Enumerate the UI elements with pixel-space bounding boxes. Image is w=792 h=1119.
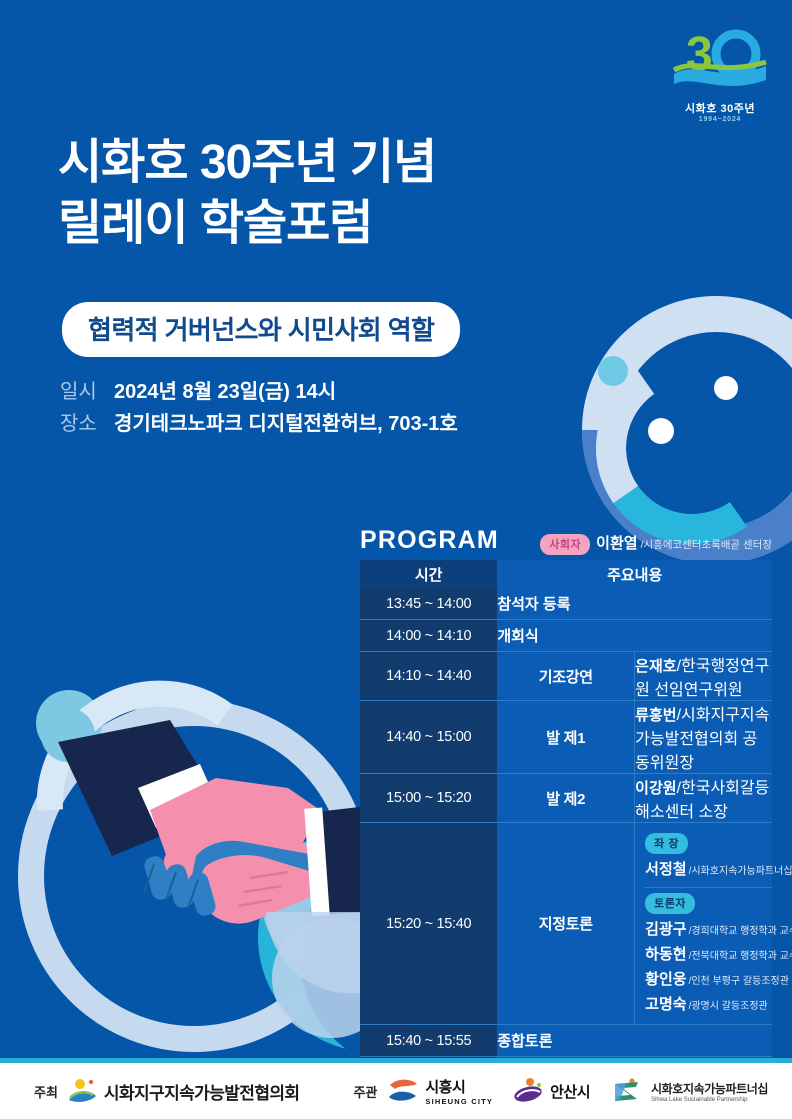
- anniversary-caption: 시화호 30주년: [668, 100, 772, 116]
- mc-block: 사회자 이환열 /시흥에코센터초록배곧 센터장: [540, 532, 772, 555]
- row-time: 15:00 ~ 15:20: [360, 774, 497, 823]
- meta-place-value: 경기테크노파크 디지털전환허브, 703-1호: [114, 413, 458, 435]
- discussant-affiliation: /경희대학교 행정학과 교수: [689, 926, 792, 937]
- siheung-city-logo-icon: [386, 1077, 420, 1105]
- chair-name: 서정철: [645, 861, 686, 878]
- discussant-affiliation: /광명시 갈등조정관: [689, 1001, 768, 1012]
- discussant-item: 하동현/전북대학교 행정학과 교수: [645, 943, 772, 964]
- dot-cyan-icon: [598, 356, 628, 386]
- row-label: 개회식: [497, 628, 538, 645]
- sponsor-group: 주관 시흥시SIHEUNG CITY 안산시: [353, 1076, 788, 1106]
- program-title: PROGRAM: [360, 526, 499, 555]
- thirty-logo-icon: 3: [668, 22, 772, 94]
- table-row: 14:00 ~ 14:10 개회식: [360, 620, 772, 652]
- host-org: 시화지구지속가능발전협의회: [67, 1078, 300, 1104]
- dot-white-2-icon: [714, 376, 738, 400]
- sponsor-ansan-name: 안산시: [550, 1081, 590, 1102]
- event-meta: 일시2024년 8월 23일(금) 14시 장소경기테크노파크 디지털전환허브,…: [60, 376, 458, 441]
- sponsor-label: 주관: [353, 1082, 377, 1101]
- sponsor-siheung-english: SIHEUNG CITY: [425, 1097, 493, 1106]
- discussant-name: 고명숙: [645, 996, 686, 1013]
- meta-place-row: 장소경기테크노파크 디지털전환허브, 703-1호: [60, 408, 458, 440]
- row-time: 14:00 ~ 14:10: [360, 620, 497, 652]
- sponsor-partnership-english: Sihwa Lake Sustainable Partnership: [651, 1097, 768, 1103]
- row-label: 기조강연: [497, 652, 634, 701]
- sihwa-council-logo-icon: [67, 1078, 97, 1104]
- subtitle-pill: 협력적 거버넌스와 시민사회 역할: [62, 302, 460, 357]
- discussant-affiliation: /인천 부평구 갈등조정관: [689, 976, 789, 987]
- footer-bar: 주최 시화지구지속가능발전협의회 주관 시흥시SIHEUNG CITY: [0, 1063, 792, 1119]
- sponsor-siheung-name: 시흥시SIHEUNG CITY: [425, 1076, 493, 1106]
- row-time: 13:45 ~ 14:00: [360, 588, 497, 620]
- table-row: 14:40 ~ 15:00 발 제1 류홍번/시화지구지속가능발전협의회 공동위…: [360, 701, 772, 774]
- discussant-name: 하동현: [645, 946, 686, 963]
- table-row: 13:45 ~ 14:00 참석자 등록: [360, 588, 772, 620]
- program-section: PROGRAM 사회자 이환열 /시흥에코센터초록배곧 센터장 시간 주요내용 …: [360, 526, 772, 1089]
- chair-badge: 좌 장: [645, 833, 688, 854]
- title-line-1: 시화호 30주년 기념: [58, 136, 436, 189]
- ansan-city-logo-icon: [513, 1077, 545, 1105]
- column-header-time: 시간: [360, 560, 497, 588]
- anniversary-years: 1994~2024: [668, 116, 772, 123]
- title-line-2: 릴레이 학술포럼: [58, 197, 372, 250]
- row-time: 14:40 ~ 15:00: [360, 701, 497, 774]
- panel-content: 좌 장 서정철/시화호지속가능파트너십 대표이사 토론자 김광구/경희대학교 행…: [635, 823, 772, 1024]
- chair-affiliation: /시화호지속가능파트너십 대표이사: [689, 866, 792, 877]
- host-name: 시화지구지속가능발전협의회: [104, 1079, 300, 1104]
- panel-discussant-group: 토론자 김광구/경희대학교 행정학과 교수 하동현/전북대학교 행정학과 교수 …: [645, 887, 772, 1018]
- panel-time: 15:20 ~ 15:40: [360, 823, 497, 1025]
- row-speaker: 류홍번: [635, 707, 676, 724]
- table-row: 15:40 ~ 15:55 종합토론: [360, 1025, 772, 1057]
- anniversary-logo: 3 시화호 30주년 1994~2024: [668, 22, 772, 124]
- arc-large-blue-icon: [582, 296, 792, 564]
- column-header-content: 주요내용: [497, 560, 772, 588]
- row-time: 14:10 ~ 14:40: [360, 652, 497, 701]
- sponsor-ansan: 안산시: [513, 1077, 590, 1105]
- discussant-name: 김광구: [645, 921, 686, 938]
- arc-large-pale-icon: [582, 296, 792, 564]
- mc-role: /시흥에코센터초록배곧 센터장: [641, 537, 772, 552]
- meta-date-row: 일시2024년 8월 23일(금) 14시: [60, 376, 458, 408]
- program-header: PROGRAM 사회자 이환열 /시흥에코센터초록배곧 센터장: [360, 526, 772, 560]
- discussant-badge: 토론자: [645, 893, 695, 914]
- row-label: 발 제1: [497, 701, 634, 774]
- host-label: 주최: [34, 1082, 58, 1101]
- sponsor-siheung: 시흥시SIHEUNG CITY: [386, 1076, 493, 1106]
- page-title: 시화호 30주년 기념릴레이 학술포럼: [58, 132, 436, 255]
- row-speaker: 이강원: [635, 780, 676, 797]
- program-table: 시간 주요내용 13:45 ~ 14:00 참석자 등록 14:00 ~ 14:…: [360, 560, 772, 1089]
- table-row: 14:10 ~ 14:40 기조강연 은재호/한국행정연구원 선임연구위원: [360, 652, 772, 701]
- row-label: 발 제2: [497, 774, 634, 823]
- mc-name: 이환열: [596, 532, 637, 553]
- discussant-name: 황인웅: [645, 971, 686, 988]
- row-speaker: 은재호: [635, 658, 676, 675]
- panel-label: 지정토론: [497, 823, 634, 1025]
- sponsor-partnership-name: 시화호지속가능파트너십Sihwa Lake Sustainable Partne…: [651, 1080, 768, 1103]
- meta-date-value: 2024년 8월 23일(금) 14시: [114, 381, 336, 403]
- discussant-affiliation: /전북대학교 행정학과 교수: [689, 951, 792, 962]
- discussant-item: 고명숙/광명시 갈등조정관: [645, 993, 772, 1014]
- sihwa-partnership-logo-icon: [610, 1077, 644, 1105]
- row-time: 15:40 ~ 15:55: [360, 1025, 497, 1057]
- table-header-row: 시간 주요내용: [360, 560, 772, 588]
- row-label: 종합토론: [497, 1033, 552, 1050]
- discussant-item: 김광구/경희대학교 행정학과 교수: [645, 918, 772, 939]
- sponsor-partnership: 시화호지속가능파트너십Sihwa Lake Sustainable Partne…: [610, 1077, 768, 1105]
- panel-chair-group: 좌 장 서정철/시화호지속가능파트너십 대표이사: [645, 828, 772, 883]
- table-row: 15:00 ~ 15:20 발 제2 이강원/한국사회갈등해소센터 소장: [360, 774, 772, 823]
- row-label: 참석자 등록: [497, 596, 570, 613]
- host-group: 주최 시화지구지속가능발전협의회: [34, 1078, 319, 1104]
- meta-place-label: 장소: [60, 408, 114, 440]
- discussant-item: 황인웅/인천 부평구 갈등조정관: [645, 968, 772, 989]
- mc-badge: 사회자: [540, 534, 590, 555]
- dot-white-1-icon: [648, 418, 674, 444]
- poster-root: 3 시화호 30주년 1994~2024 시화호 30주년 기념릴레이 학술포럼…: [0, 0, 792, 1119]
- table-row-panel: 15:20 ~ 15:40 지정토론 좌 장 서정철/시화호지속가능파트너십 대…: [360, 823, 772, 1025]
- meta-date-label: 일시: [60, 376, 114, 408]
